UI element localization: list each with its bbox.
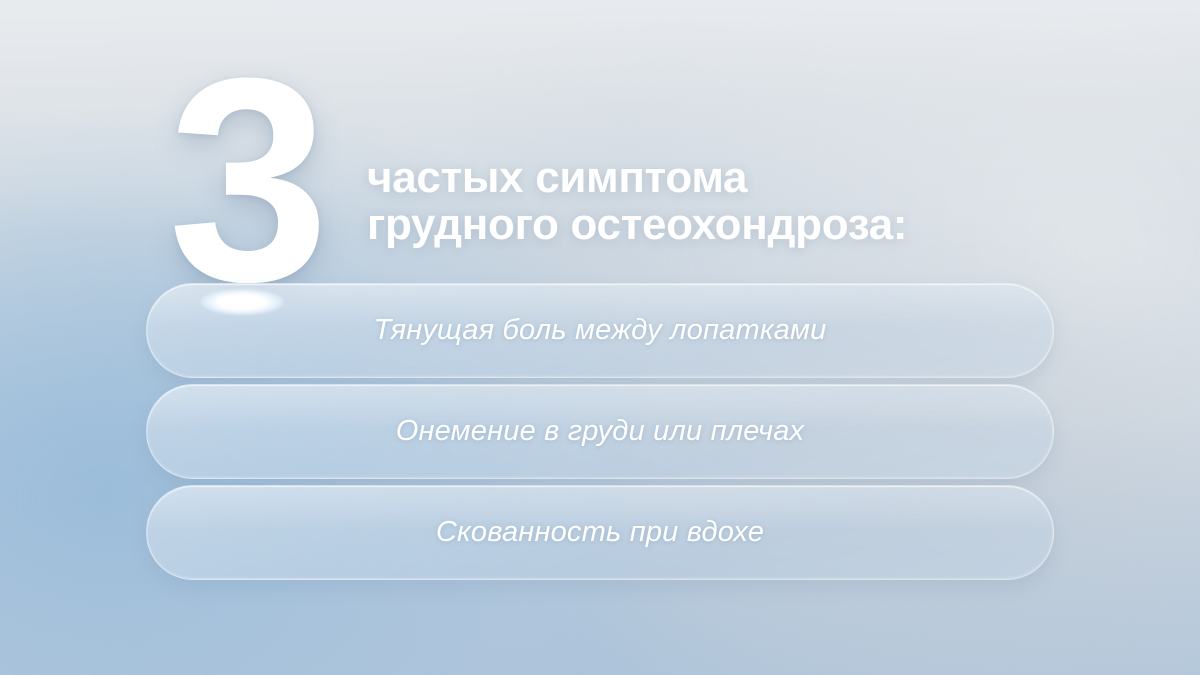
symptom-pill-3: Скованность при вдохе [146,485,1054,580]
symptom-label-2: Онемение в груди или плечах [396,415,805,448]
symptom-pill-1: Тянущая боль между лопатками [146,283,1054,378]
symptom-pill-2: Онемение в груди или плечах [146,384,1054,479]
slide-canvas: 3 частых симптома грудного остеохондроза… [0,0,1200,675]
big-number-three: 3 [168,62,323,300]
title-line-1: частых симптома [367,155,907,202]
page-title: частых симптома грудного остеохондроза: [367,155,907,248]
symptom-label-1: Тянущая боль между лопатками [374,314,827,347]
highlight-glint-icon [201,289,283,315]
symptom-list: Тянущая боль между лопатками Онемение в … [146,283,1054,586]
headline-block: 3 частых симптома грудного остеохондроза… [0,0,1200,300]
symptom-label-3: Скованность при вдохе [436,516,764,549]
title-line-2: грудного остеохондроза: [367,202,907,249]
